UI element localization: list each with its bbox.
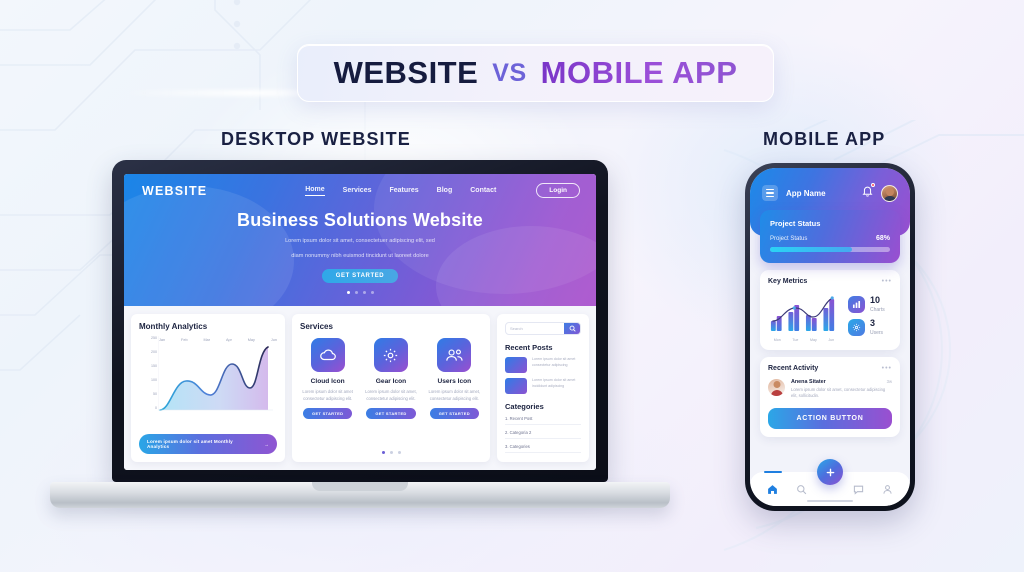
laptop-base (50, 482, 670, 508)
metrics-x-tue: Tue (792, 338, 798, 342)
tab-home[interactable] (761, 484, 783, 495)
recent-activity-menu-icon[interactable]: ••• (882, 365, 892, 372)
service-item-gear[interactable]: Gear Icon Lorem ipsum dolor sit amet, co… (363, 338, 418, 420)
project-status-card: Project Status Project Status 68% (760, 210, 900, 263)
analytics-card-title: Monthly Analytics (139, 322, 277, 331)
activity-avatar (768, 379, 785, 396)
comparison-title-banner: WEBSITE VS MOBILE APP (297, 44, 774, 102)
service-item-cloud[interactable]: Cloud Icon Lorem ipsum dolor sit amet co… (300, 338, 355, 420)
notification-bell-icon[interactable] (862, 184, 873, 202)
recent-activity-header: Recent Activity ••• (768, 365, 892, 372)
search-input[interactable]: Search (506, 326, 564, 331)
analytics-y-axis: 250 200 150 100 50 0 (139, 336, 157, 410)
phone-screen: App Name Project Status Project Status 6… (750, 168, 910, 506)
metrics-x-jun: Jun (828, 338, 834, 342)
post-thumbnail (505, 357, 527, 373)
service-button-cloud[interactable]: GET STARTED (303, 408, 352, 419)
slider-dot-4[interactable] (371, 291, 374, 294)
arrow-right-icon: → (264, 442, 269, 447)
phone-mockup: App Name Project Status Project Status 6… (745, 163, 915, 511)
home-icon (767, 484, 778, 495)
y-tick-50: 50 (139, 392, 157, 396)
recent-post-item[interactable]: Lorem ipsum dolor sit amet incididunt ad… (505, 378, 581, 394)
action-button[interactable]: ACTION BUTTON (768, 408, 892, 429)
y-tick-250: 250 (139, 336, 157, 340)
hero-slider-dots[interactable] (124, 291, 596, 294)
chat-icon (853, 484, 864, 495)
stat-users-label: Users (870, 330, 883, 336)
service-name-cloud: Cloud Icon (300, 378, 355, 385)
notification-badge (871, 183, 875, 187)
y-tick-150: 150 (139, 364, 157, 368)
section-heading-mobile: MOBILE APP (763, 129, 885, 150)
y-tick-0: 0 (139, 406, 157, 410)
banner-mobile-app-text: MOBILE APP (541, 55, 738, 91)
key-metrics-card: Key Metrics ••• (760, 270, 900, 350)
activity-text: Lorem ipsum dolor sit amet, consectetur … (791, 387, 892, 400)
analytics-action-button[interactable]: Lorem ipsum dolor sit amet Monthly Analy… (139, 434, 277, 454)
stat-charts: 10 Charts (848, 296, 892, 313)
bar-chart-icon (848, 296, 865, 313)
floating-action-button[interactable] (817, 459, 843, 485)
service-item-users[interactable]: Users Icon Lorem ipsum dolor sit amet, c… (427, 338, 482, 420)
progress-bar-fill (770, 247, 852, 252)
slider-dot-1[interactable] (347, 291, 350, 294)
stat-users: 3 Users (848, 319, 892, 336)
users-icon (437, 338, 471, 372)
gear-icon (374, 338, 408, 372)
section-heading-desktop: DESKTOP WEBSITE (221, 129, 411, 150)
website-content-area: Monthly Analytics 250 200 150 100 50 0 (124, 306, 596, 470)
service-name-users: Users Icon (427, 378, 482, 385)
category-item[interactable]: 1. Recent Post (505, 416, 581, 425)
activity-timestamp: 3w (887, 379, 892, 384)
laptop-screen: WEBSITE Home Services Features Blog Cont… (124, 174, 596, 470)
key-metrics-stats: 10 Charts 3 Users (848, 296, 892, 336)
website-sidebar-card: Search Recent Posts Lorem ipsum dolor si… (497, 314, 589, 462)
service-desc-users: Lorem ipsum dolor sit amet, consectetur … (427, 389, 482, 402)
profile-icon (882, 484, 893, 495)
hero-subtitle-line1: Lorem ipsum dolor sit amet, consectetuer… (124, 237, 596, 246)
analytics-chart: 250 200 150 100 50 0 (139, 336, 277, 428)
tab-active-indicator (764, 471, 782, 473)
progress-bar-track (770, 247, 890, 252)
service-desc-cloud: Lorem ipsum dolor sit amet consectetur a… (300, 389, 355, 402)
search-icon[interactable] (564, 323, 580, 334)
category-item[interactable]: 2. Categoria 2 (505, 430, 581, 439)
nav-item-services[interactable]: Services (343, 187, 372, 194)
settings-gear-icon (848, 319, 865, 336)
y-tick-100: 100 (139, 378, 157, 382)
website-nav-links: Home Services Features Blog Contact Logi… (305, 183, 580, 198)
activity-user-name: Anena Sitater (791, 379, 826, 385)
hero-title: Business Solutions Website (124, 210, 596, 231)
key-metrics-body: Mon Tue May Jun (768, 291, 892, 342)
key-metrics-header: Key Metrics ••• (768, 278, 892, 285)
services-dot-2[interactable] (390, 451, 393, 454)
hamburger-menu-icon[interactable] (762, 185, 778, 201)
metrics-x-may: May (810, 338, 817, 342)
tab-profile[interactable] (877, 484, 899, 495)
service-button-gear[interactable]: GET STARTED (366, 408, 415, 419)
stat-charts-label: Charts (870, 307, 885, 313)
user-avatar[interactable] (881, 185, 898, 202)
post-text: Lorem ipsum dolor sit amet incididunt ad… (532, 378, 581, 394)
slider-dot-3[interactable] (363, 291, 366, 294)
nav-item-blog[interactable]: Blog (437, 187, 453, 194)
service-button-users[interactable]: GET STARTED (430, 408, 479, 419)
services-slider-dots[interactable] (300, 451, 482, 454)
search-bar[interactable]: Search (505, 322, 581, 335)
login-button[interactable]: Login (536, 183, 580, 198)
banner-website-text: WEBSITE (334, 55, 479, 91)
slider-dot-2[interactable] (355, 291, 358, 294)
service-name-gear: Gear Icon (363, 378, 418, 385)
project-status-value: 68% (876, 235, 890, 242)
recent-activity-card: Recent Activity ••• Anena Sitater 3w Lor… (760, 357, 900, 437)
banner-vs-text: VS (492, 59, 526, 88)
laptop-lid: WEBSITE Home Services Features Blog Cont… (112, 160, 608, 482)
services-card-title: Services (300, 322, 482, 331)
services-dot-3[interactable] (398, 451, 401, 454)
monthly-analytics-card: Monthly Analytics 250 200 150 100 50 0 (131, 314, 285, 462)
home-indicator (807, 500, 853, 502)
metrics-x-mon: Mon (774, 338, 781, 342)
plus-icon (825, 467, 836, 478)
post-text: Lorem ipsum dolor sit amet consectetur a… (532, 357, 581, 373)
key-metrics-menu-icon[interactable]: ••• (882, 278, 892, 285)
hero-get-started-button[interactable]: GET STARTED (322, 269, 399, 283)
activity-body: Anena Sitater 3w Lorem ipsum dolor sit a… (791, 379, 892, 400)
nav-item-features[interactable]: Features (389, 187, 418, 194)
tab-search[interactable] (790, 484, 812, 495)
recent-activity-title: Recent Activity (768, 365, 818, 372)
services-dot-1[interactable] (382, 451, 385, 454)
services-items: Cloud Icon Lorem ipsum dolor sit amet co… (300, 338, 482, 420)
search-icon (796, 484, 807, 495)
metrics-x-axis: Mon Tue May Jun (768, 338, 840, 342)
recent-posts-title: Recent Posts (505, 343, 581, 352)
nav-item-contact[interactable]: Contact (470, 187, 496, 194)
y-tick-200: 200 (139, 350, 157, 354)
tab-chat[interactable] (848, 484, 870, 495)
category-item[interactable]: 3. Categories (505, 444, 581, 453)
cloud-icon (311, 338, 345, 372)
stat-users-number: 3 (870, 319, 883, 328)
hero-content: Business Solutions Website Lorem ipsum d… (124, 210, 596, 294)
stat-charts-number: 10 (870, 296, 885, 305)
services-card: Services Cloud Icon Lorem ipsum dolor si… (292, 314, 490, 462)
nav-item-home[interactable]: Home (305, 186, 324, 196)
service-desc-gear: Lorem ipsum dolor sit amet, consectetur … (363, 389, 418, 402)
laptop-mockup: WEBSITE Home Services Features Blog Cont… (50, 160, 670, 508)
project-status-title: Project Status (770, 219, 890, 228)
app-name-label: App Name (786, 189, 826, 198)
key-metrics-chart: Mon Tue May Jun (768, 291, 840, 342)
website-navbar: WEBSITE Home Services Features Blog Cont… (124, 174, 596, 198)
activity-item: Anena Sitater 3w Lorem ipsum dolor sit a… (768, 379, 892, 400)
hero-subtitle-line2: diam nonummy nibh euismod tincidunt ut l… (124, 252, 596, 261)
header-actions (862, 184, 898, 202)
website-hero-section: WEBSITE Home Services Features Blog Cont… (124, 174, 596, 306)
recent-post-item[interactable]: Lorem ipsum dolor sit amet consectetur a… (505, 357, 581, 373)
project-status-row: Project Status 68% (770, 235, 890, 242)
metrics-bar-svg (768, 291, 840, 331)
post-thumbnail (505, 378, 527, 394)
project-status-label: Project Status (770, 236, 807, 242)
website-logo: WEBSITE (142, 184, 207, 198)
categories-title: Categories (505, 402, 581, 411)
bottom-tab-bar (750, 472, 910, 506)
analytics-line-svg (158, 336, 273, 414)
key-metrics-title: Key Metrics (768, 278, 807, 285)
activity-top-row: Anena Sitater 3w (791, 379, 892, 385)
analytics-button-label: Lorem ipsum dolor sit amet Monthly Analy… (147, 439, 248, 449)
